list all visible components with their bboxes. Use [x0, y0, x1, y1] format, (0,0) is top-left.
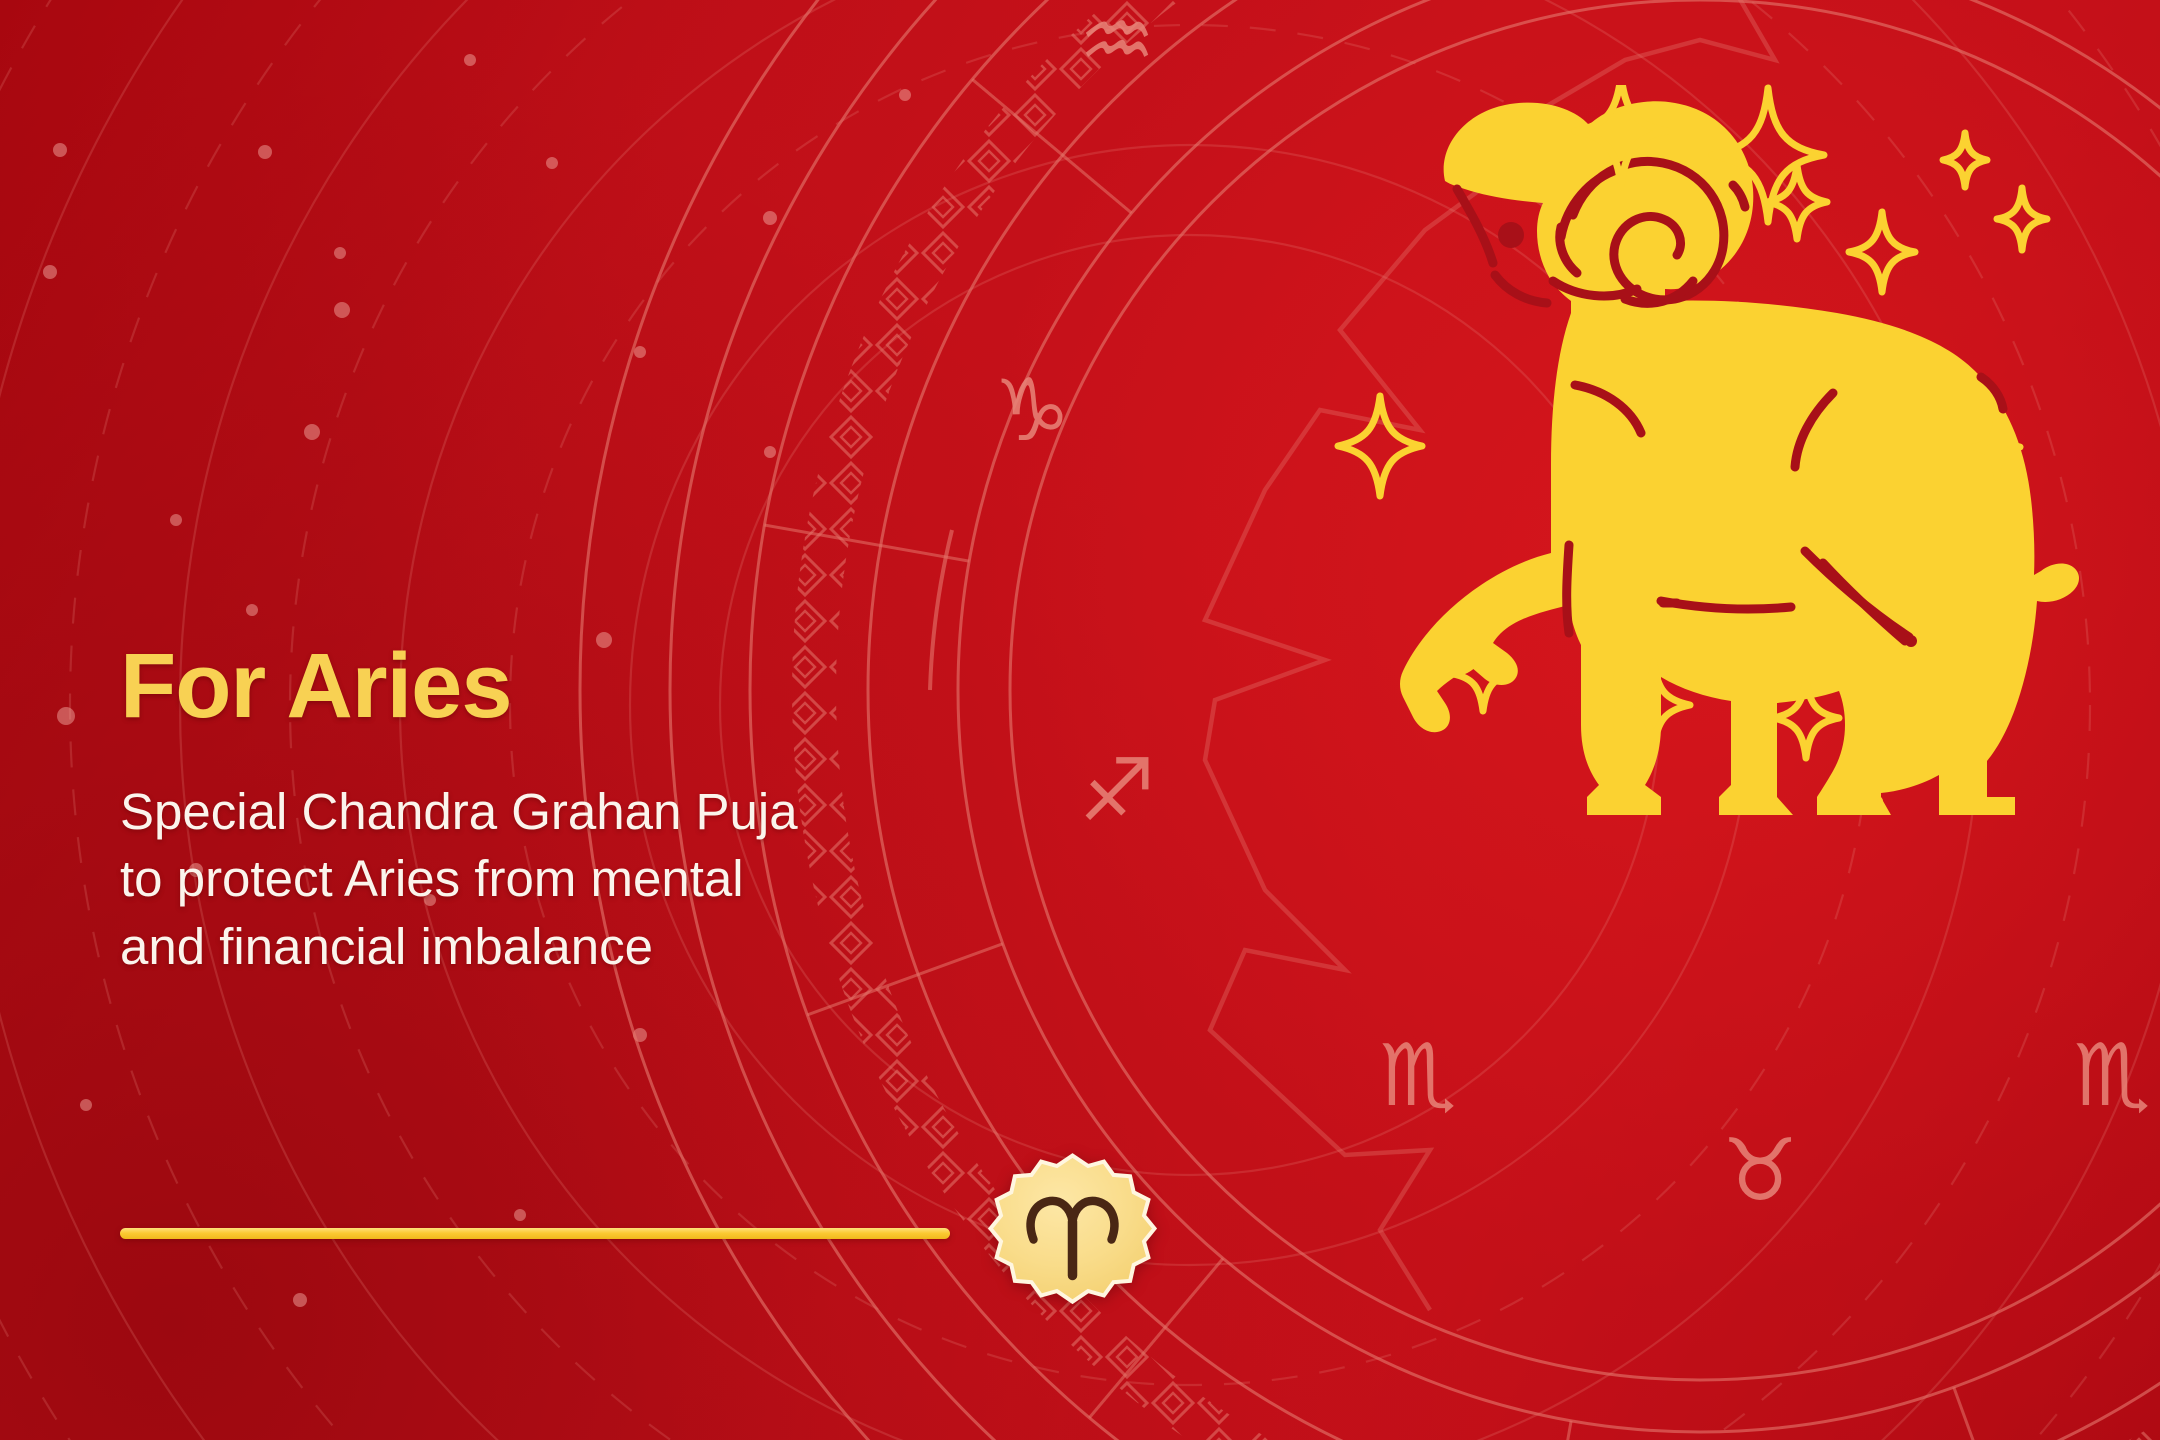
subtitle-text: Special Chandra Grahan Puja to protect A… [120, 778, 1060, 980]
taurus-glyph-icon: ♉ [1721, 1121, 1798, 1221]
subtitle-line-2: to protect Aries from mental [120, 845, 1060, 912]
gold-divider [120, 1228, 950, 1239]
text-block: For Aries Special Chandra Grahan Puja to… [120, 640, 1100, 980]
subtitle-line-3: and financial imbalance [120, 913, 1060, 980]
aquarius-glyph-icon: ♒ [1078, 0, 1155, 91]
page-title: For Aries [120, 640, 1100, 732]
scorpio-glyph-icon-right: ♏ [2073, 1026, 2150, 1126]
ram-illustration-icon [1325, 85, 2115, 825]
ram-eye-icon [1498, 222, 1524, 248]
aries-badge [985, 1150, 1160, 1325]
aries-promo-banner: ♒ ♑ ♐ ♏ ♉ ♏ [0, 0, 2160, 1440]
scorpio-glyph-icon-left: ♏ [1379, 1026, 1456, 1126]
capricorn-glyph-icon: ♑ [993, 361, 1070, 461]
subtitle-line-1: Special Chandra Grahan Puja [120, 778, 1060, 845]
